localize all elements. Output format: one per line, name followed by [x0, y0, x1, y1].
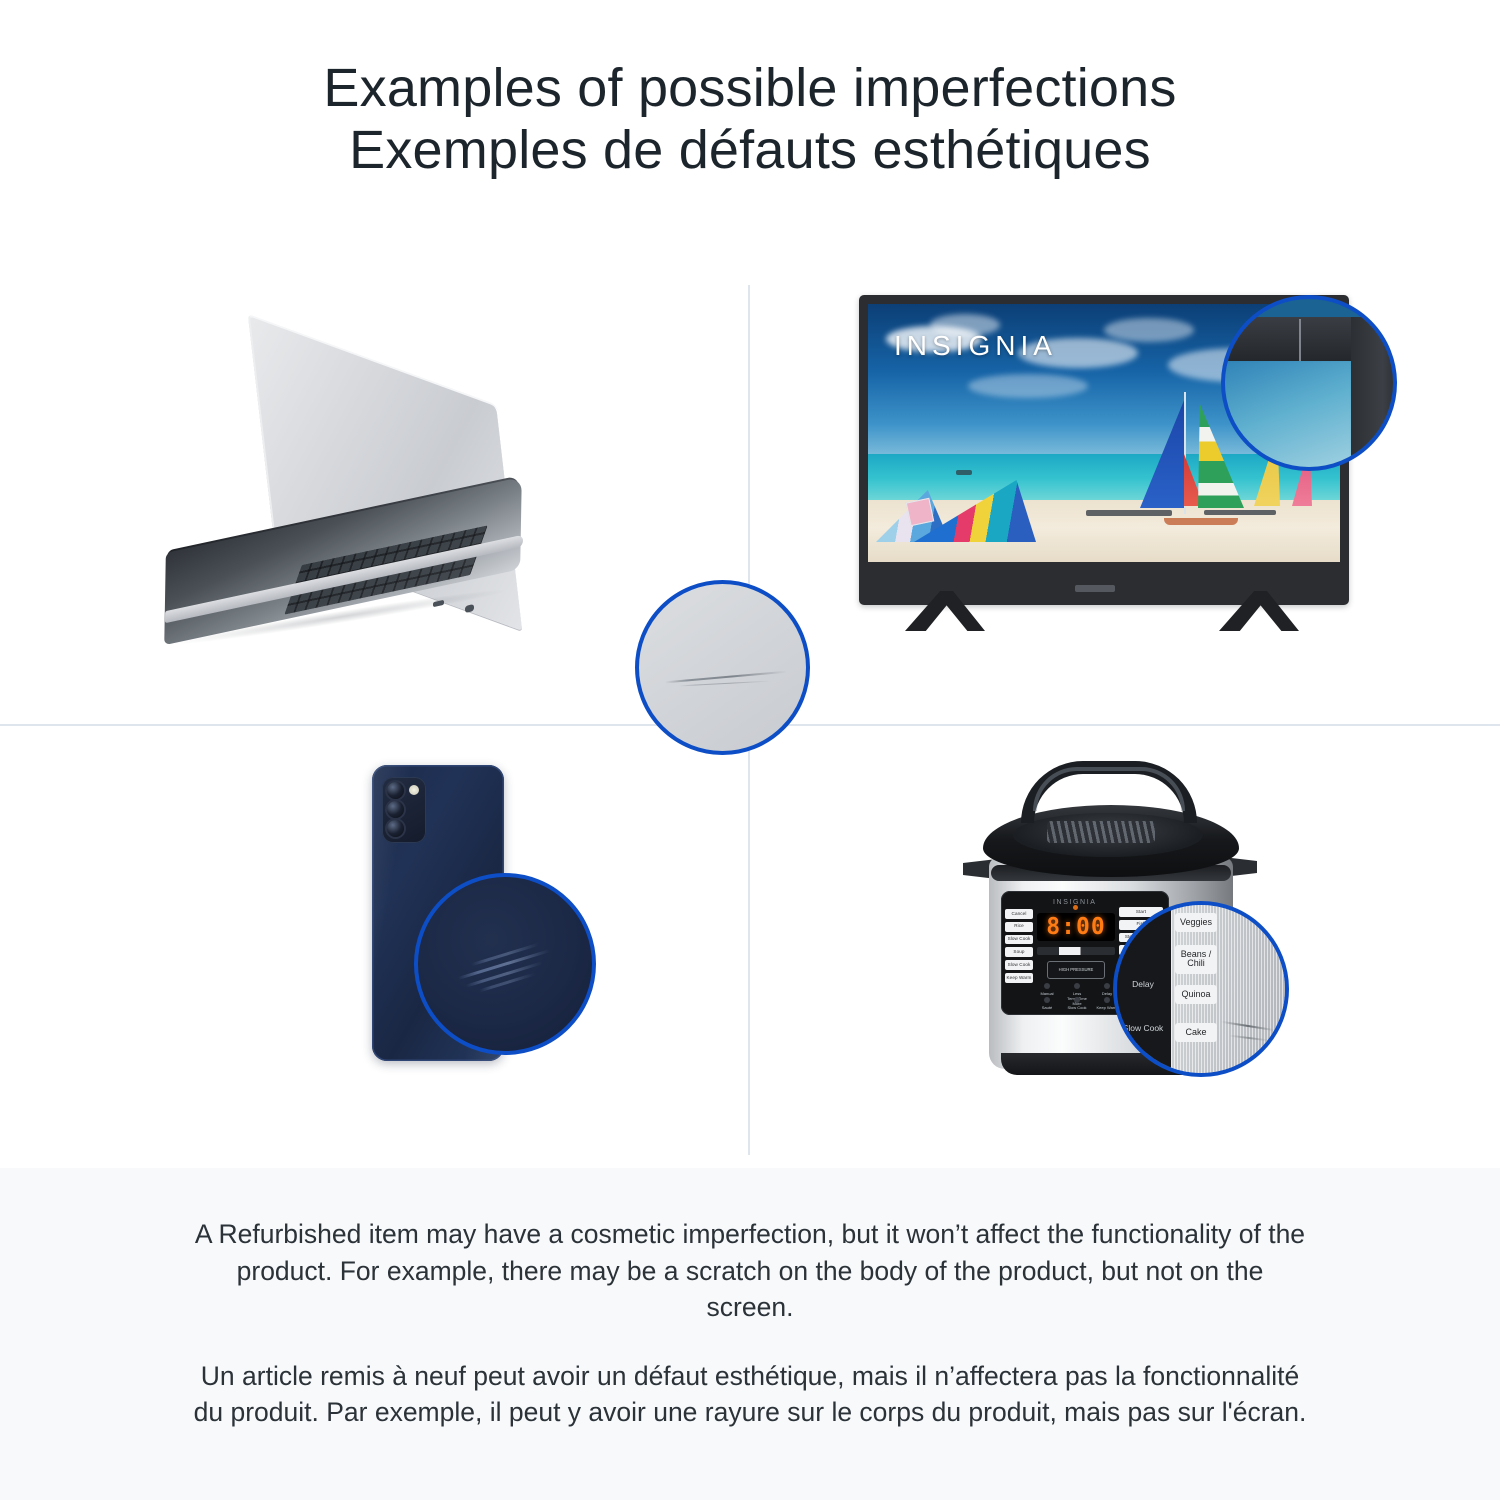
camera-flash-icon: [409, 785, 419, 795]
cooker-left-button-column: Cancel Rice Slow Cook Soup Slow Cook Kee…: [1005, 909, 1033, 983]
cooker-button[interactable]: Keep Warm: [1005, 973, 1033, 983]
tv-brand-logo: INSIGNIA: [894, 330, 1057, 362]
cooker-button[interactable]: Cancel: [1005, 909, 1033, 919]
description-panel: A Refurbished item may have a cosmetic i…: [0, 1168, 1500, 1500]
tv-scene-hull: [1204, 510, 1276, 515]
tv-front-badge: [1075, 585, 1115, 592]
television-image: INSIGNIA: [859, 295, 1369, 665]
tv-magnifier-circle: [1221, 295, 1397, 471]
tv-bezel-scuff-mark: [1299, 319, 1301, 361]
page-root: Examples of possible imperfections Exemp…: [0, 0, 1500, 1500]
cooker-magnified-button: Beans / Chili: [1175, 945, 1217, 974]
pressure-cooker-image: INSIGNIA 8:00 Cancel Rice Slow Cook Soup…: [961, 753, 1291, 1113]
cooker-handle-highlight: [1033, 767, 1185, 811]
cooker-magnified-button: Veggies: [1175, 913, 1217, 932]
page-title-en: Examples of possible imperfections: [0, 58, 1500, 120]
page-title: Examples of possible imperfections Exemp…: [0, 58, 1500, 181]
description-paragraph-fr: Un article remis à neuf peut avoir un dé…: [190, 1326, 1310, 1431]
cooker-magnifier-circle: Veggies Beans / Chili Quinoa Cake Delay …: [1113, 901, 1289, 1077]
tv-scene-hull: [1086, 510, 1172, 516]
description-paragraph-en: A Refurbished item may have a cosmetic i…: [190, 1168, 1310, 1326]
smartphone-image: [372, 765, 602, 1095]
cooker-magnified-button: Cake: [1175, 1023, 1217, 1042]
cooker-key[interactable]: Slow Cook: [1065, 997, 1089, 1010]
smartphone-example-cell: [0, 725, 748, 1168]
tv-magnified-bezel-corner: [1351, 317, 1397, 467]
camera-lens-icon: [387, 820, 404, 837]
tv-scene-kite-patch: [906, 498, 934, 526]
cooker-key[interactable]: Sauté: [1035, 997, 1059, 1010]
camera-lens-icon: [387, 782, 404, 799]
laptop-example-cell: [0, 255, 748, 724]
cooker-button[interactable]: Slow Cook: [1005, 935, 1033, 945]
cooker-key-row-2: Sauté Slow Cook Keep Warm: [1035, 997, 1119, 1010]
cooker-button[interactable]: Slow Cook: [1005, 960, 1033, 970]
cooker-button[interactable]: Soup: [1005, 947, 1033, 957]
cooker-level-indicator: [1037, 947, 1115, 955]
laptop-image: [165, 365, 585, 635]
cooker-display: 8:00: [1037, 913, 1115, 941]
cooker-button[interactable]: Rice: [1005, 922, 1033, 932]
cooker-status-indicator: [1073, 905, 1078, 910]
cooker-lid-vent: [1047, 821, 1155, 843]
phone-magnifier-circle: [414, 873, 596, 1055]
television-example-cell: INSIGNIA: [749, 255, 1500, 724]
tv-scene-beached-hull: [1164, 518, 1238, 525]
phone-camera-module: [382, 777, 426, 843]
cooker-magnified-panel: [1117, 905, 1171, 1077]
cooker-magnified-button: Quinoa: [1175, 985, 1217, 1004]
camera-lens-icon: [387, 801, 404, 818]
pressure-cooker-example-cell: INSIGNIA 8:00 Cancel Rice Slow Cook Soup…: [749, 725, 1500, 1168]
tv-scene-distant-boat: [956, 470, 972, 475]
examples-grid: INSIGNIA: [0, 255, 1500, 1168]
cooker-magnified-dark-label: Slow Cook: [1121, 1023, 1165, 1033]
tv-scene-cloud: [1104, 318, 1194, 342]
page-title-fr: Exemples de défauts esthétiques: [0, 120, 1500, 182]
tv-scene-cloud: [968, 374, 1088, 398]
phone-scratch-mark: [479, 973, 535, 993]
cooker-display-value: 8:00: [1046, 914, 1105, 940]
cooker-magnified-dark-label: Delay: [1121, 979, 1165, 989]
cooker-pressure-mode[interactable]: HIGH PRESSURE: [1047, 961, 1105, 979]
